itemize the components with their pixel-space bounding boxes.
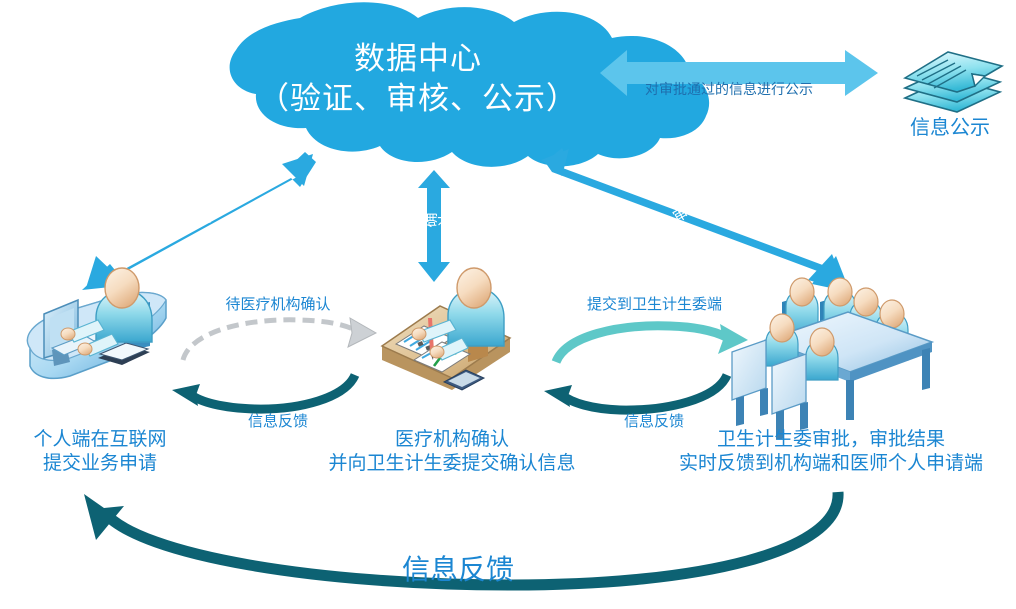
cloud-title-line1: 数据中心 (208, 40, 628, 80)
arc-label-submit-commission: 提交到卫生计生委端 (562, 295, 747, 314)
node-label-citizen-line2: 提交业务申请 (0, 452, 200, 476)
person-at-office-desk-icon (382, 268, 510, 390)
arc-label-pending-institution: 待医疗机构确认 (198, 295, 358, 314)
node-label-institution-line2: 并向卫生计生委提交确认信息 (292, 452, 612, 476)
node-label-institution: 医疗机构确认 并向卫生计生委提交确认信息 (292, 428, 612, 476)
node-label-commission-line1: 卫生计生委审批，审批结果 (646, 428, 1016, 452)
publish-node-label: 信息公示 (880, 115, 1016, 140)
node-label-institution-line1: 医疗机构确认 (292, 428, 612, 452)
meeting-table-people-icon (732, 278, 932, 440)
arc-pair-citizen-institution (172, 318, 376, 409)
diagram-canvas: 数据中心 （验证、审核、公示） 对审批通过的信息进行公示 信息公示 提交 确认 … (0, 0, 1016, 609)
arc-pair-institution-commission (544, 324, 748, 410)
cloud-title: 数据中心 （验证、审核、公示） (208, 40, 628, 119)
approve-arrow (541, 148, 850, 292)
cloud-title-line2: （验证、审核、公示） (208, 80, 628, 120)
node-label-commission-line2: 实时反馈到机构端和医师个人申请端 (646, 452, 1016, 476)
publish-arrow-label: 对审批通过的信息进行公示 (645, 82, 813, 100)
node-label-citizen: 个人端在互联网 提交业务申请 (0, 428, 200, 476)
bottom-feedback-label: 信息反馈 (358, 552, 558, 587)
node-label-citizen-line1: 个人端在互联网 (0, 428, 200, 452)
node-label-commission: 卫生计生委审批，审批结果 实时反馈到机构端和医师个人申请端 (646, 428, 1016, 476)
confirm-arrow-label: 确认 (423, 210, 453, 231)
stacked-documents-icon (905, 52, 1002, 112)
